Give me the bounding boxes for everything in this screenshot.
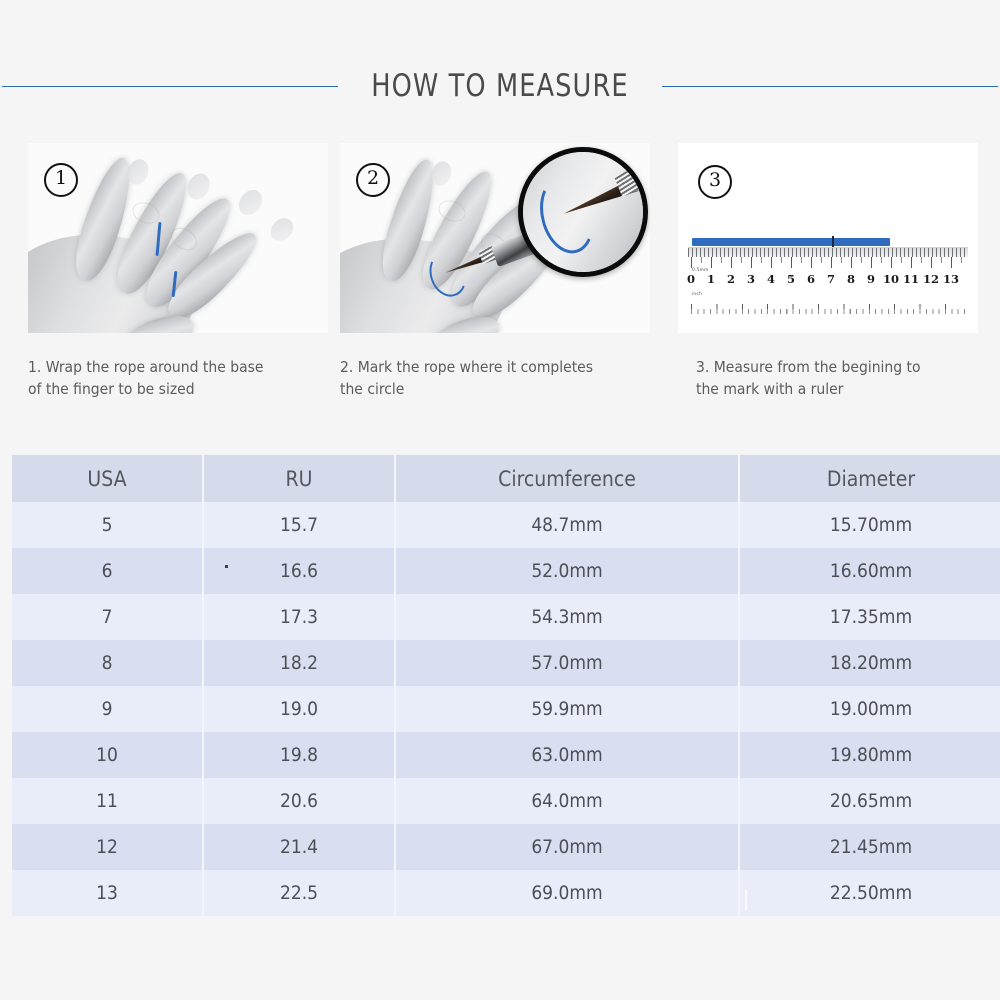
table-body: 5 15.7 48.7mm 15.70mm 6 16.6 52.0mm 16.6…	[12, 502, 1000, 916]
ruler-number: 1	[703, 272, 719, 286]
cell-diameter: 16.60mm	[739, 548, 1000, 594]
step-1-caption: 1. Wrap the rope around the base of the …	[28, 356, 338, 400]
ruler-number: 13	[943, 272, 959, 286]
cell-diameter: 17.35mm	[739, 594, 1000, 640]
ruler-number: 4	[763, 272, 779, 286]
cell-ru: 17.3	[203, 594, 395, 640]
step-2: 2 2. Mark the rope where it completes th…	[340, 143, 650, 333]
table-row: 13 22.5 69.0mm 22.50mm	[12, 870, 1000, 916]
cell-usa: 5	[12, 502, 203, 548]
cell-usa: 12	[12, 824, 203, 870]
ruler-inch-unit-label: inch	[692, 292, 702, 297]
cell-usa: 13	[12, 870, 203, 916]
cell-diameter: 15.70mm	[739, 502, 1000, 548]
cell-diameter: 22.50mm	[739, 870, 1000, 916]
cell-diameter: 20.65mm	[739, 778, 1000, 824]
ruler-cm-halfticks	[701, 257, 968, 263]
step-3-caption-line2: the mark with a ruler	[696, 378, 1000, 400]
step-3-caption: 3. Measure from the begining to the mark…	[696, 356, 1000, 400]
step-3-caption-line1: 3. Measure from the begining to	[696, 356, 1000, 378]
cell-ru: 19.0	[203, 686, 395, 732]
ruler-number: 6	[803, 272, 819, 286]
step-1-caption-line2: of the finger to be sized	[28, 378, 338, 400]
magnifier-inset	[518, 147, 648, 277]
cell-circumference: 48.7mm	[395, 502, 739, 548]
ruler-number: 5	[783, 272, 799, 286]
cell-usa: 10	[12, 732, 203, 778]
cell-circumference: 69.0mm	[395, 870, 739, 916]
cell-ru: 19.8	[203, 732, 395, 778]
magnifier-content	[518, 147, 648, 277]
step-1: 1 1. Wrap the rope around the base of th…	[28, 143, 328, 333]
page-title: HOW TO MEASURE	[371, 68, 628, 104]
cell-ru: 18.2	[203, 640, 395, 686]
ruler-mm-band	[688, 248, 968, 257]
table-row: 5 15.7 48.7mm 15.70mm	[12, 502, 1000, 548]
step-3-badge: 3	[698, 165, 732, 199]
ruler-number: 8	[843, 272, 859, 286]
page-title-bar: HOW TO MEASURE	[0, 62, 1000, 110]
nail-ring	[234, 185, 267, 219]
cell-ru: 21.4	[203, 824, 395, 870]
cell-ru: 20.6	[203, 778, 395, 824]
ruler-cm-tick-row: 0.5mm	[688, 257, 968, 273]
cell-diameter: 21.45mm	[739, 824, 1000, 870]
cell-diameter: 18.20mm	[739, 640, 1000, 686]
step-1-image: 1	[28, 143, 328, 333]
rope-bar	[692, 238, 890, 246]
cell-circumference: 67.0mm	[395, 824, 739, 870]
cell-ru: 15.7	[203, 502, 395, 548]
step-2-caption-line2: the circle	[340, 378, 650, 400]
cell-circumference: 52.0mm	[395, 548, 739, 594]
column-header-ru: RU	[203, 455, 395, 502]
cell-usa: 6	[12, 548, 203, 594]
title-rule-left	[2, 86, 338, 87]
cell-usa: 9	[12, 686, 203, 732]
ruler-number: 7	[823, 272, 839, 286]
cell-circumference: 57.0mm	[395, 640, 739, 686]
ruler-number: 12	[923, 272, 939, 286]
table-header: USA RU Circumference Diameter	[12, 455, 1000, 502]
ruler-number: 11	[903, 272, 919, 286]
ruler-number: 10	[883, 272, 899, 286]
rope-arc-zoomed	[532, 171, 601, 259]
ruler-number: 3	[743, 272, 759, 286]
step-2-caption-line1: 2. Mark the rope where it completes	[340, 356, 650, 378]
nail-middle	[183, 170, 214, 203]
cell-usa: 11	[12, 778, 203, 824]
cell-circumference: 59.9mm	[395, 686, 739, 732]
title-rule-right	[662, 86, 998, 87]
cell-circumference: 54.3mm	[395, 594, 739, 640]
column-header-circumference: Circumference	[395, 455, 739, 502]
step-2-image: 2	[340, 143, 650, 333]
cell-circumference: 63.0mm	[395, 732, 739, 778]
table-row: 10 19.8 63.0mm 19.80mm	[12, 732, 1000, 778]
cell-ru: 16.6	[203, 548, 395, 594]
ruler-number-row: 0 1 2 3 4 5 6 7 8 9 10 11 12 13	[688, 272, 968, 292]
cell-usa: 8	[12, 640, 203, 686]
cell-usa: 7	[12, 594, 203, 640]
image-speck-artifact	[225, 565, 228, 568]
cell-circumference: 64.0mm	[395, 778, 739, 824]
ruler-number: 9	[863, 272, 879, 286]
table-row: 7 17.3 54.3mm 17.35mm	[12, 594, 1000, 640]
ruler-number: 0	[683, 272, 699, 286]
ruler-inch-subticks	[691, 309, 968, 314]
table-tail-divider	[745, 890, 747, 910]
step-3: 0.5mm 0 1 2 3 4 5 6 7 8 9 10	[678, 143, 978, 333]
step-1-caption-line1: 1. Wrap the rope around the base	[28, 356, 338, 378]
table-row: 9 19.0 59.9mm 19.00mm	[12, 686, 1000, 732]
step-2-badge: 2	[356, 163, 390, 197]
column-header-diameter: Diameter	[739, 455, 1000, 502]
table-row: 8 18.2 57.0mm 18.20mm	[12, 640, 1000, 686]
table-header-row: USA RU Circumference Diameter	[12, 455, 1000, 502]
ruler-inch-row: inch	[688, 292, 968, 314]
ruler-body: 0.5mm 0 1 2 3 4 5 6 7 8 9 10	[688, 247, 968, 314]
steps-section: 1 1. Wrap the rope around the base of th…	[0, 143, 1000, 405]
table-row: 6 16.6 52.0mm 16.60mm	[12, 548, 1000, 594]
cell-diameter: 19.80mm	[739, 732, 1000, 778]
step-3-image: 0.5mm 0 1 2 3 4 5 6 7 8 9 10	[678, 143, 978, 333]
ruler-number: 2	[723, 272, 739, 286]
step-2-caption: 2. Mark the rope where it completes the …	[340, 356, 650, 400]
column-header-usa: USA	[12, 455, 203, 502]
cell-diameter: 19.00mm	[739, 686, 1000, 732]
nail-pinky	[266, 214, 298, 246]
step-1-badge: 1	[44, 163, 78, 197]
table-row: 11 20.6 64.0mm 20.65mm	[12, 778, 1000, 824]
cell-ru: 22.5	[203, 870, 395, 916]
ruler-mm-ticks	[688, 248, 968, 257]
table-row: 12 21.4 67.0mm 21.45mm	[12, 824, 1000, 870]
ring-size-table: USA RU Circumference Diameter 5 15.7 48.…	[12, 455, 1000, 916]
